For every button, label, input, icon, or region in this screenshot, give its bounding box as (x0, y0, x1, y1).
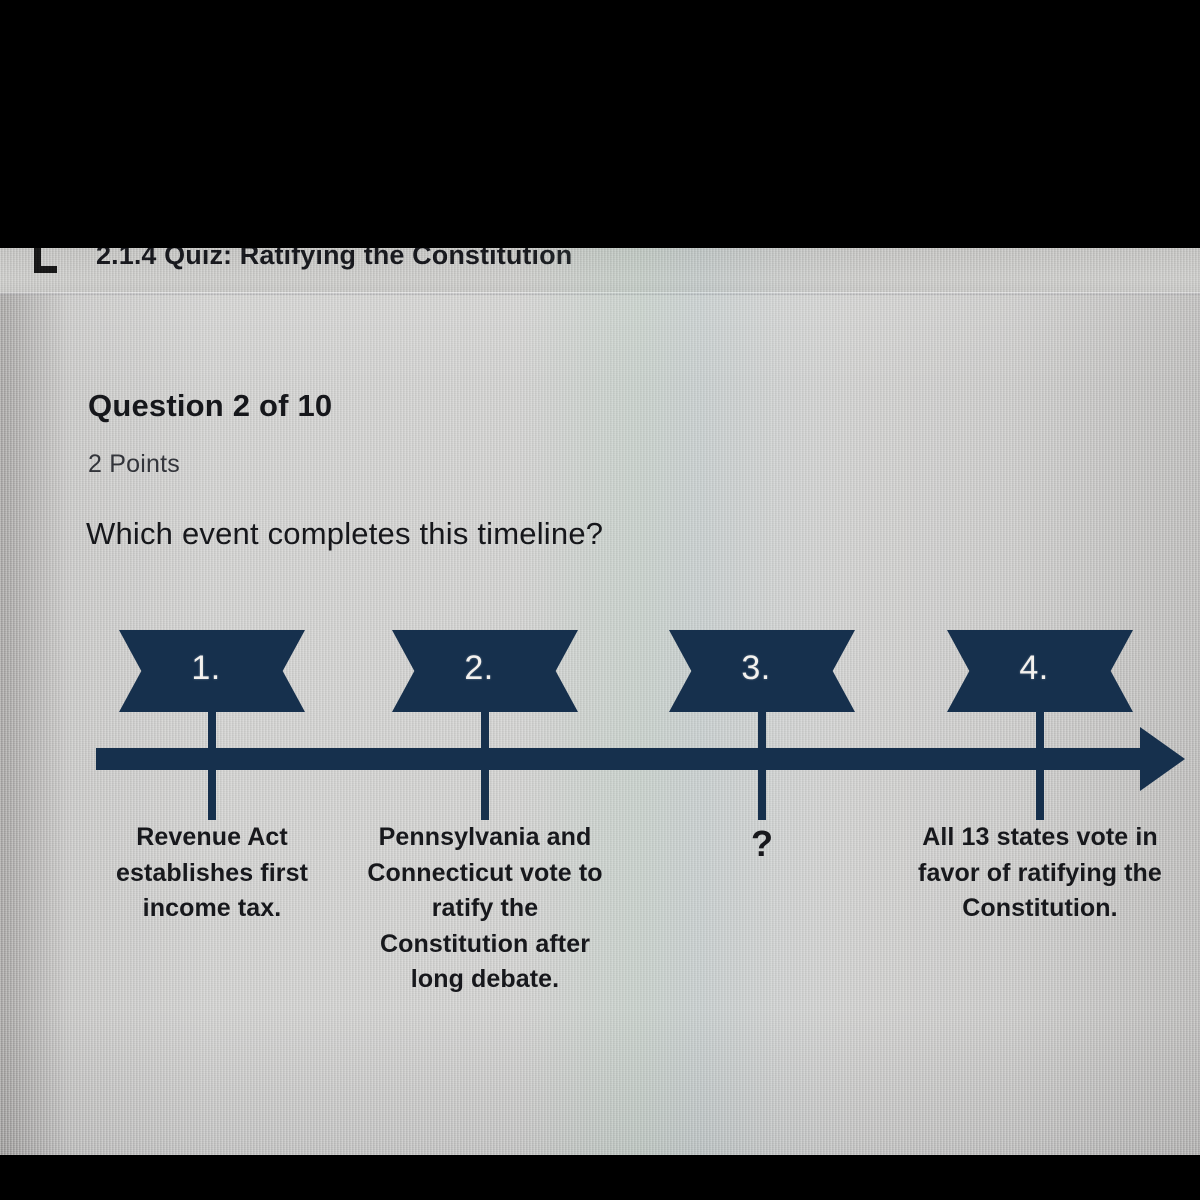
question-counter: Question 2 of 10 (88, 388, 332, 424)
timeline-caption: All 13 states vote in favor of ratifying… (910, 820, 1170, 927)
timeline-tick (758, 710, 766, 820)
photo-bottom-letterbox (0, 1155, 1200, 1200)
timeline-caption: Pennsylvania and Connecticut vote to rat… (355, 820, 615, 998)
timeline-graphic: 1. Revenue Act establishes first income … (0, 630, 1200, 1050)
timeline-banner-number: 2. (464, 649, 493, 688)
header-divider (0, 292, 1200, 295)
timeline-caption: Revenue Act establishes first income tax… (82, 820, 342, 927)
timeline-banner: 4. (947, 630, 1133, 712)
quiz-title: 2.1.4 Quiz: Ratifying the Constitution (96, 248, 572, 271)
timeline-banner: 3. (669, 630, 855, 712)
back-arrow-icon[interactable] (30, 248, 64, 270)
timeline-tick (208, 710, 216, 820)
timeline-tick (1036, 710, 1044, 820)
timeline-banner-number: 1. (191, 649, 220, 688)
timeline-banner-number: 3. (741, 649, 770, 688)
question-points: 2 Points (88, 450, 180, 479)
timeline-event-4: 4. All 13 states vote in favor of ratify… (910, 630, 1170, 712)
timeline-caption-unknown: ? (632, 818, 892, 869)
question-prompt: Which event completes this timeline? (86, 516, 603, 552)
timeline-banner: 1. (119, 630, 305, 712)
photo-top-letterbox (0, 0, 1200, 248)
photographed-screen: 2.1.4 Quiz: Ratifying the Constitution Q… (0, 0, 1200, 1200)
right-arrow-icon (1140, 727, 1185, 791)
timeline-tick (481, 710, 489, 820)
timeline-event-2: 2. Pennsylvania and Connecticut vote to … (355, 630, 615, 712)
app-header: 2.1.4 Quiz: Ratifying the Constitution (0, 248, 1200, 292)
timeline-event-3: 3. ? (632, 630, 892, 712)
timeline-event-1: 1. Revenue Act establishes first income … (82, 630, 342, 712)
timeline-banner: 2. (392, 630, 578, 712)
timeline-banner-number: 4. (1019, 649, 1048, 688)
timeline-axis (96, 748, 1168, 770)
